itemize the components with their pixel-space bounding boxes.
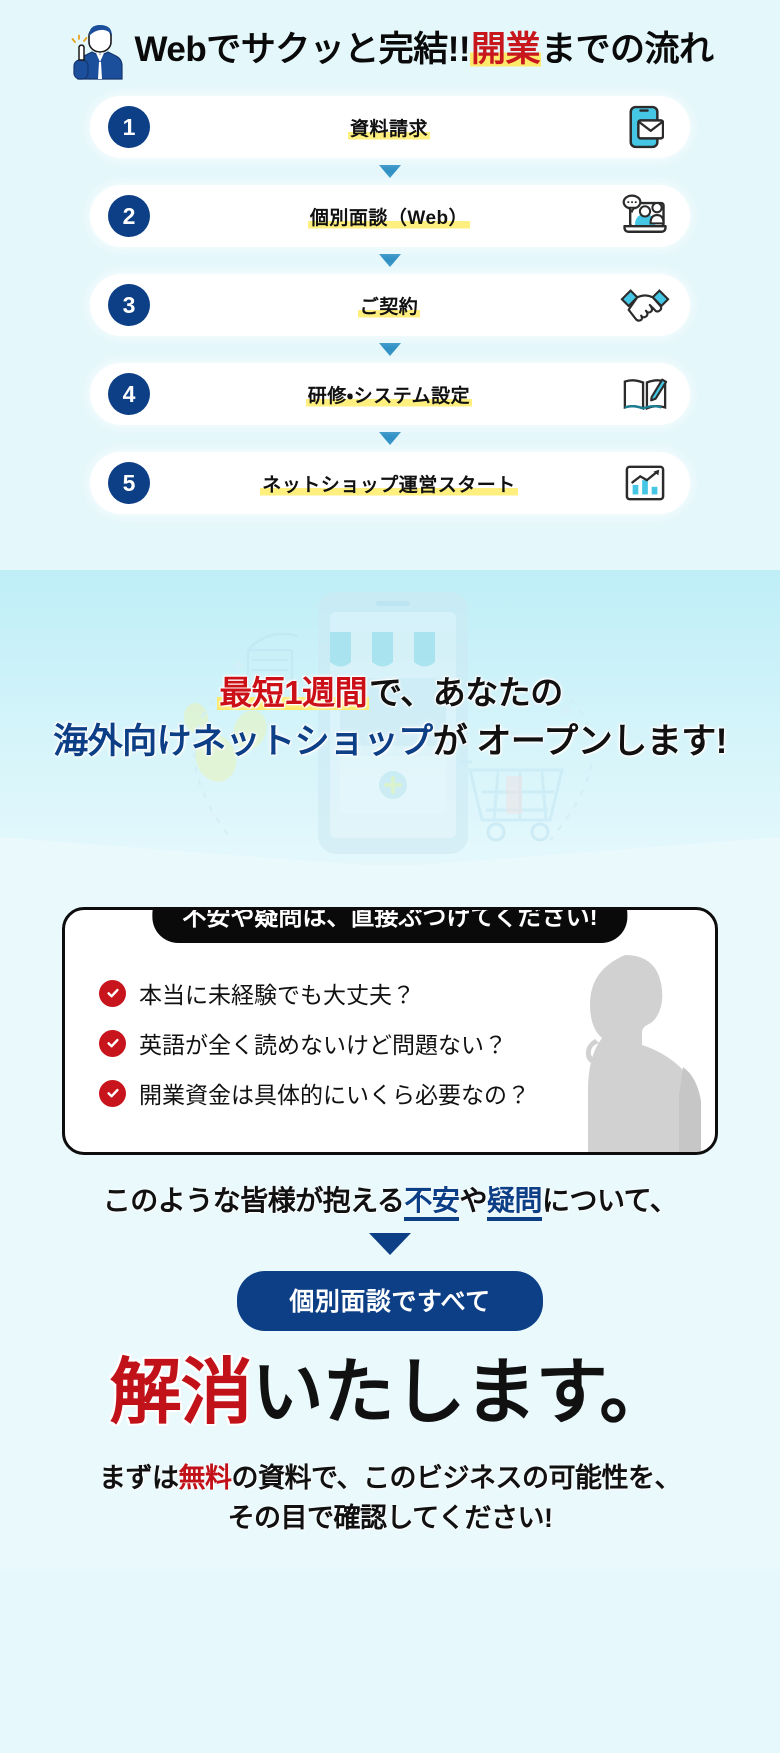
- hero-emphasis-duration: 最短1週間: [217, 674, 369, 711]
- qa-section: 不安や疑問は、直接ぶつけてください! 本当に未経験でも大丈夫？ 英語が全く読めな…: [0, 865, 780, 1155]
- closing-lead: このような皆様が抱える不安や疑問について、: [0, 1179, 780, 1219]
- qa-item: 開業資金は具体的にいくら必要なの？: [99, 1076, 715, 1110]
- hero-emphasis-shop: 海外向けネットショップ: [53, 722, 433, 761]
- step-arrow-1: [379, 165, 401, 178]
- check-circle-icon: [99, 1080, 126, 1107]
- interview-pill[interactable]: 個別面談ですべて: [237, 1271, 542, 1331]
- lead-emphasis-anxiety: 不安: [404, 1185, 459, 1221]
- step-label: ご契約: [90, 292, 690, 319]
- qa-item-label: 英語が全く読めないけど問題ない？: [139, 1026, 507, 1060]
- flow-step-3[interactable]: 3 ご契約: [90, 274, 690, 336]
- bar-chart-growth-icon: [618, 460, 672, 506]
- outro-emphasis-free: 無料: [179, 1463, 232, 1493]
- flow-step-1[interactable]: 1 資料請求: [90, 96, 690, 158]
- outro-part-b: の資料で、このビジネスの可能性を、: [232, 1463, 681, 1493]
- check-circle-icon: [99, 1030, 126, 1057]
- step-number-badge: 1: [108, 106, 150, 148]
- arrow-down-icon: [369, 1233, 411, 1255]
- hero-line-1-rest: で、あなたの: [369, 674, 563, 711]
- lead-emphasis-question: 疑問: [487, 1185, 542, 1221]
- lead-part-b: について、: [542, 1185, 677, 1216]
- check-circle-icon: [99, 980, 126, 1007]
- outro-line-2: その目で確認してください!: [0, 1498, 780, 1539]
- hero-line-2: 海外向けネットショップが オープンします!: [53, 720, 727, 764]
- step-arrow-3: [379, 343, 401, 356]
- hero-section: 最短1週間で、あなたの 海外向けネットショップが オープンします!: [0, 570, 780, 865]
- step-arrow-2: [379, 254, 401, 267]
- hero-text: 最短1週間で、あなたの 海外向けネットショップが オープンします!: [53, 672, 727, 764]
- outro-line-1: まずは無料の資料で、このビジネスの可能性を、: [0, 1458, 780, 1499]
- outro-part-a: まずは: [99, 1463, 179, 1493]
- flow-title-highlight: 開業: [470, 30, 541, 69]
- flow-section: Webでサクッと完結!!開業までの流れ 1 資料請求 2 個別面談（Web）: [0, 0, 780, 570]
- closing-section: このような皆様が抱える不安や疑問について、 個別面談ですべて 解消いたします。 …: [0, 1155, 780, 1569]
- step-number-badge: 4: [108, 373, 150, 415]
- closing-outro: まずは無料の資料で、このビジネスの可能性を、 その目で確認してください!: [0, 1458, 780, 1539]
- flow-title-part1: Webでサクッと完結!!: [134, 30, 470, 69]
- flow-step-5[interactable]: 5 ネットショップ運営スタート: [90, 452, 690, 514]
- flow-title: Webでサクッと完結!!開業までの流れ: [134, 32, 713, 67]
- flow-title-part2: までの流れ: [541, 30, 714, 69]
- step-number-badge: 3: [108, 284, 150, 326]
- headline-rest: いたします。: [252, 1353, 671, 1433]
- smartphone-mail-icon: [618, 104, 672, 150]
- step-label: 研修・システム設定: [90, 381, 690, 408]
- step-number-badge: 5: [108, 462, 150, 504]
- hero-line-2-rest: オープンします!: [476, 722, 727, 761]
- qa-box: 不安や疑問は、直接ぶつけてください! 本当に未経験でも大丈夫？ 英語が全く読めな…: [62, 907, 718, 1155]
- step-label: 資料請求: [90, 114, 690, 141]
- flow-step-2[interactable]: 2 個別面談（Web）: [90, 185, 690, 247]
- hero-line-1: 最短1週間で、あなたの: [53, 672, 727, 713]
- qa-item-label: 開業資金は具体的にいくら必要なの？: [139, 1076, 530, 1110]
- book-pencil-icon: [618, 371, 672, 417]
- step-label: ネットショップ運営スタート: [90, 470, 690, 497]
- interview-pill-wrapper: 個別面談ですべて: [0, 1271, 780, 1331]
- qa-item-label: 本当に未経験でも大丈夫？: [139, 976, 415, 1010]
- closing-headline: 解消いたします。: [0, 1353, 780, 1434]
- businessman-pointing-icon: [70, 18, 128, 80]
- qa-list: 本当に未経験でも大丈夫？ 英語が全く読めないけど問題ない？ 開業資金は具体的にい…: [65, 954, 715, 1110]
- hero-line-2-particle: が: [433, 722, 468, 761]
- headline-emphasis-resolve: 解消: [110, 1353, 252, 1433]
- flow-steps-list: 1 資料請求 2 個別面談（Web）: [0, 96, 780, 514]
- laptop-video-call-icon: [618, 193, 672, 239]
- step-number-badge: 2: [108, 195, 150, 237]
- qa-item: 英語が全く読めないけど問題ない？: [99, 1026, 715, 1060]
- step-arrow-4: [379, 432, 401, 445]
- qa-banner: 不安や疑問は、直接ぶつけてください!: [152, 907, 627, 943]
- flow-step-4[interactable]: 4 研修・システム設定: [90, 363, 690, 425]
- qa-item: 本当に未経験でも大丈夫？: [99, 976, 715, 1010]
- flow-header: Webでサクッと完結!!開業までの流れ: [0, 16, 780, 82]
- lead-part-a: このような皆様が抱える: [103, 1185, 405, 1216]
- step-label: 個別面談（Web）: [90, 203, 690, 230]
- lead-part-mid: や: [459, 1185, 487, 1216]
- handshake-icon: [618, 282, 672, 328]
